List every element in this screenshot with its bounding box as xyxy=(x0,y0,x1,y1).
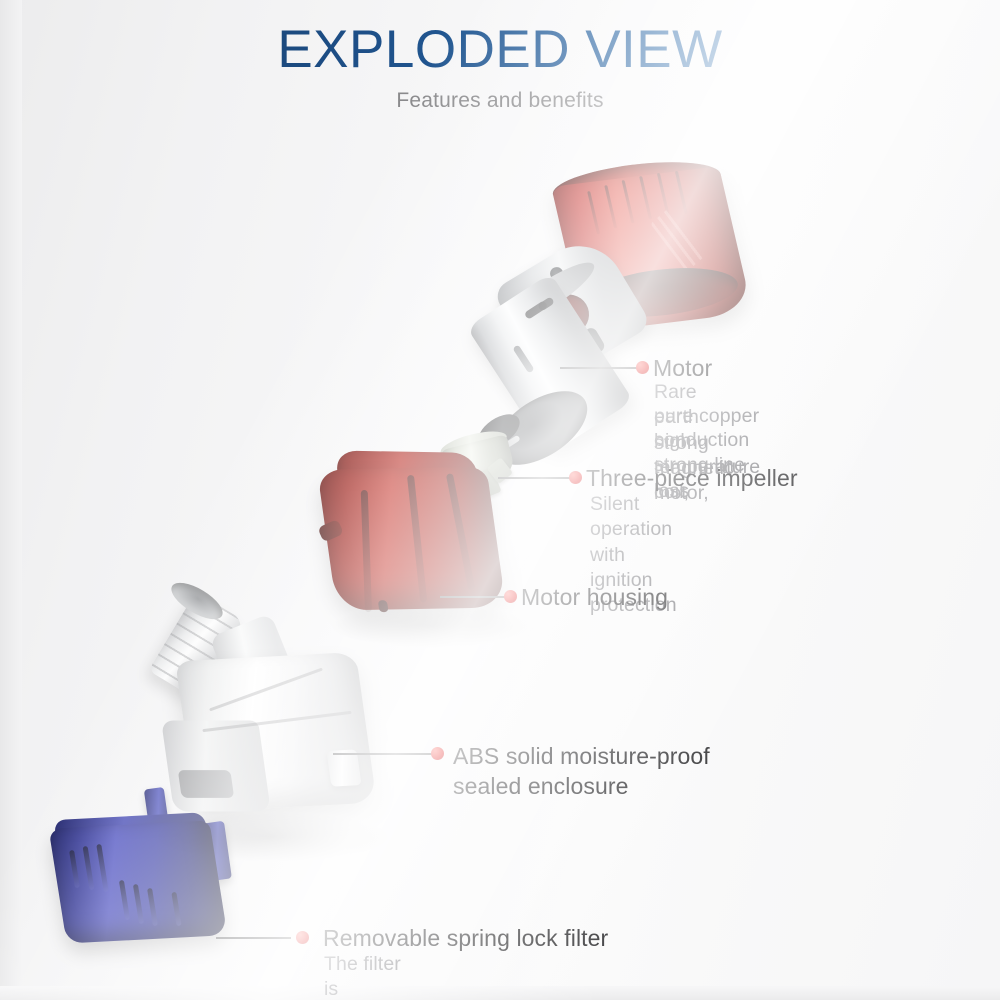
callout-dot-icon xyxy=(636,361,649,374)
leader-line xyxy=(216,937,291,939)
leader-line xyxy=(498,477,573,479)
background-left-edge xyxy=(0,0,22,1000)
leader-line xyxy=(560,367,642,369)
callout-heading: Three-piece impeller xyxy=(586,465,798,492)
page-subtitle: Features and benefits xyxy=(0,89,1000,113)
callout-heading: Removable spring lock filter xyxy=(323,925,608,952)
callout-heading: Motor xyxy=(653,355,712,382)
leader-line xyxy=(333,753,435,755)
callout-dot-icon xyxy=(569,471,582,484)
page-title: EXPLODED VIEW xyxy=(0,22,1000,78)
callout-heading: Motor housing xyxy=(521,584,668,611)
callout-dot-icon xyxy=(296,931,309,944)
callout-heading: ABS solid moisture-proof sealed enclosur… xyxy=(453,741,753,802)
header: EXPLODED VIEW Features and benefits xyxy=(0,22,1000,113)
callout-dot-icon xyxy=(504,590,517,603)
leader-line xyxy=(440,596,508,598)
exploded-view-infographic: EXPLODED VIEW Features and benefits xyxy=(0,0,1000,1000)
callout-description-line: The filter is detachable and easy to cle… xyxy=(324,952,420,1000)
callout-dot-icon xyxy=(431,747,444,760)
background-bottom-edge xyxy=(0,986,1000,1000)
part-spring-lock-filter xyxy=(44,788,274,974)
